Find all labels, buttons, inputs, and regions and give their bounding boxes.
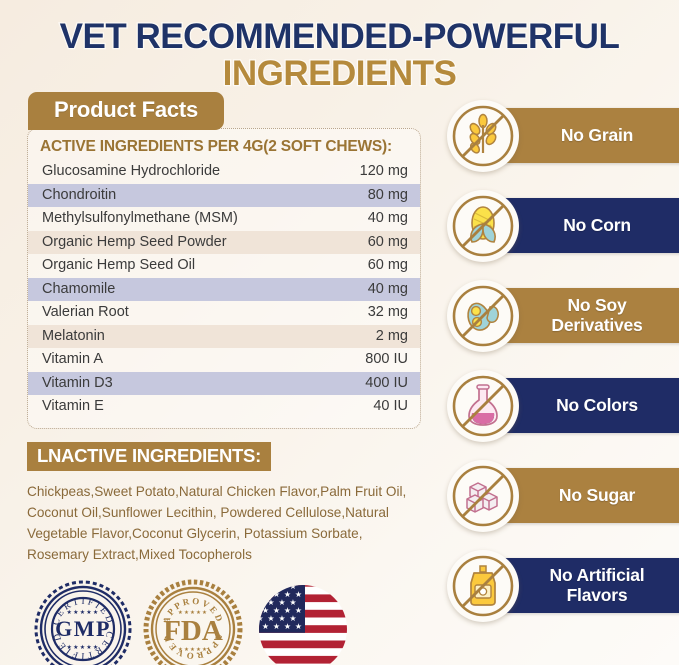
fda-center-text: FDA (163, 615, 223, 647)
table-row: Vitamin E40 IU (28, 395, 420, 419)
ingredient-amount: 40 mg (368, 280, 408, 299)
svg-text:★: ★ (295, 622, 302, 631)
corn-icon (450, 193, 516, 259)
ingredient-name: Vitamin A (42, 350, 103, 369)
badge-no-soy-derivatives-label: No Soy Derivatives (551, 296, 642, 335)
table-row: Glucosamine Hydrochloride120 mg (28, 160, 420, 184)
ingredient-name: Chondroitin (42, 186, 116, 205)
ingredient-amount: 400 IU (365, 374, 408, 393)
table-row: Organic Hemp Seed Oil60 mg (28, 254, 420, 278)
badge-no-artificial-flavors-disc (447, 550, 519, 622)
ingredient-amount: 60 mg (368, 256, 408, 275)
certification-seals: CERTIFIED CERTIFIED GMP ★★★★★ ★★★★★ (33, 579, 443, 665)
table-row: Melatonin2 mg (28, 325, 420, 349)
svg-text:★: ★ (262, 590, 269, 599)
badge-no-grain[interactable]: No Grain (443, 98, 679, 176)
badge-no-grain-disc (447, 100, 519, 172)
page-title: VET RECOMMENDED-POWERFUL INGREDIENTS (0, 0, 679, 92)
inactive-ingredients-header: LNACTIVE INGREDIENTS: (27, 442, 271, 471)
ingredient-name: Organic Hemp Seed Oil (42, 256, 195, 275)
left-column: Product Facts ACTIVE INGREDIENTS PER 4G(… (0, 92, 443, 665)
ingredient-name: Valerian Root (42, 303, 129, 322)
ingredient-name: Vitamin E (42, 397, 104, 416)
svg-text:★: ★ (256, 582, 263, 591)
badge-no-sugar-label: No Sugar (559, 486, 635, 506)
ingredient-amount: 800 IU (365, 350, 408, 369)
badge-no-grain-label: No Grain (561, 126, 633, 146)
product-facts-table: ACTIVE INGREDIENTS PER 4G(2 SOFT CHEWS):… (27, 128, 421, 429)
table-row: Chondroitin80 mg (28, 184, 420, 208)
badge-no-corn-label: No Corn (563, 216, 631, 236)
table-row: Valerian Root32 mg (28, 301, 420, 325)
ingredient-amount: 32 mg (368, 303, 408, 322)
svg-text:★: ★ (256, 598, 263, 607)
badge-no-corn[interactable]: No Corn (443, 188, 679, 266)
ingredient-name: Melatonin (42, 327, 105, 346)
badge-no-soy-derivatives-line2: Derivatives (551, 315, 642, 335)
table-row: Methylsulfonylmethane (MSM)40 mg (28, 207, 420, 231)
badge-no-soy-derivatives-disc (447, 280, 519, 352)
ingredient-amount: 120 mg (360, 162, 408, 181)
ingredient-amount: 2 mg (376, 327, 408, 346)
fda-stars-top: ★★★★★ (178, 609, 208, 616)
ingredient-name: Methylsulfonylmethane (MSM) (42, 209, 238, 228)
ingredient-amount: 80 mg (368, 186, 408, 205)
badge-no-artificial-flavors-label: No Artificial Flavors (550, 566, 645, 605)
badge-no-sugar[interactable]: No Sugar (443, 458, 679, 536)
badge-no-soy-derivatives[interactable]: No Soy Derivatives (443, 278, 679, 356)
ingredient-name: Glucosamine Hydrochloride (42, 162, 220, 181)
page-title-line1: VET RECOMMENDED-POWERFUL (0, 18, 679, 55)
gmp-center-text: GMP (55, 616, 111, 641)
gmp-stars-bottom: ★★★★★ (67, 644, 100, 651)
ingredient-rows: Glucosamine Hydrochloride120 mgChondroit… (28, 160, 420, 419)
badge-no-artificial-flavors-line2: Flavors (567, 585, 628, 605)
svg-text:★: ★ (262, 622, 269, 631)
table-row: Vitamin D3400 IU (28, 372, 420, 396)
page-title-line2: INGREDIENTS (0, 55, 679, 92)
inactive-ingredients-body: Chickpeas,Sweet Potato,Natural Chicken F… (27, 481, 413, 565)
flask-icon (450, 373, 516, 439)
fda-stars-bottom: ★★★★★ (178, 646, 208, 653)
ingredient-name: Vitamin D3 (42, 374, 113, 393)
svg-text:★: ★ (267, 582, 274, 591)
fda-seal: APPROVED APPROVED FDA ★★★★★ ★★★★★ (143, 579, 243, 665)
badge-no-corn-disc (447, 190, 519, 262)
usa-flag-seal: ★★★★ ★★★★ ★★★★ ★★★★ ★★★★ ★★★★ (253, 579, 353, 665)
soybean-icon (450, 283, 516, 349)
ingredient-amount: 60 mg (368, 233, 408, 252)
badge-no-colors[interactable]: No Colors (443, 368, 679, 446)
ingredient-name: Chamomile (42, 280, 115, 299)
badge-no-sugar-disc (447, 460, 519, 532)
svg-text:★: ★ (284, 622, 291, 631)
table-row: Vitamin A800 IU (28, 348, 420, 372)
table-row: Chamomile40 mg (28, 278, 420, 302)
badge-no-colors-disc (447, 370, 519, 442)
gmp-seal: CERTIFIED CERTIFIED GMP ★★★★★ ★★★★★ (33, 579, 133, 665)
badge-no-soy-derivatives-line1: No Soy (567, 295, 626, 315)
ingredient-amount: 40 mg (368, 209, 408, 228)
sugar-cubes-icon (450, 463, 516, 529)
badge-no-artificial-flavors-line1: No Artificial (550, 565, 645, 585)
ingredient-amount: 40 IU (373, 397, 408, 416)
claims-badge-list: No Grain (443, 92, 679, 665)
wheat-icon (450, 103, 516, 169)
product-facts-tab: Product Facts (28, 92, 224, 130)
active-ingredients-header: ACTIVE INGREDIENTS PER 4G(2 SOFT CHEWS): (28, 136, 420, 160)
ingredient-name: Organic Hemp Seed Powder (42, 233, 227, 252)
badge-no-artificial-flavors[interactable]: No Artificial Flavors (443, 548, 679, 626)
flavor-bottle-icon (450, 553, 516, 619)
table-row: Organic Hemp Seed Powder60 mg (28, 231, 420, 255)
gmp-stars-top: ★★★★★ (67, 609, 100, 616)
svg-text:★: ★ (273, 622, 280, 631)
badge-no-colors-label: No Colors (556, 396, 638, 416)
